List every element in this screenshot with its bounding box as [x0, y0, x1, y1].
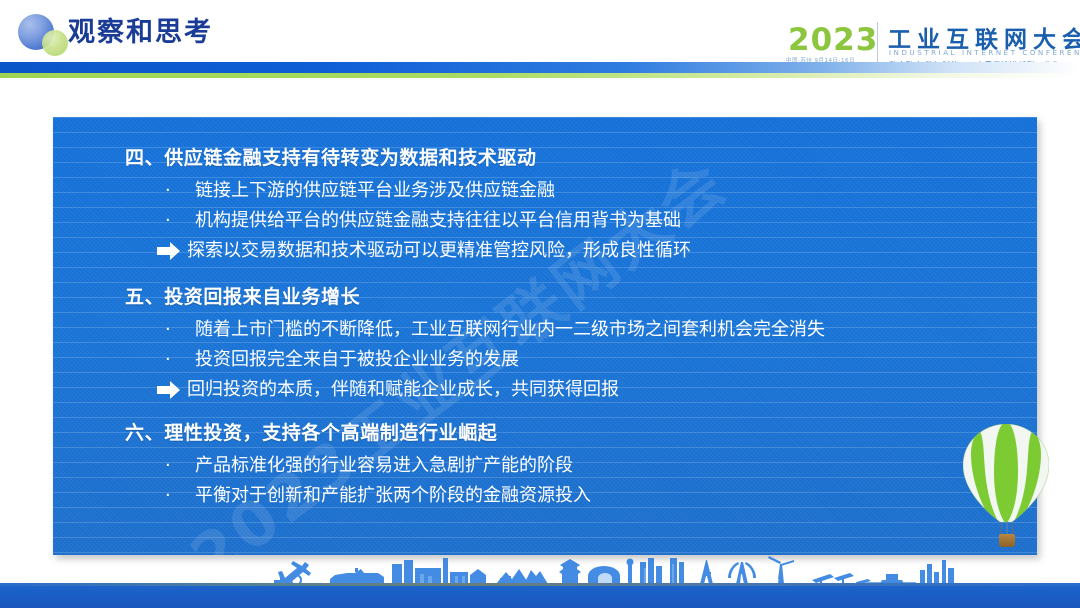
dot-bullet-icon: · — [165, 345, 195, 375]
page-title: 观察和思考 — [68, 10, 213, 49]
bullet-text: 随着上市门槛的不断降低，工业互联网行业内一二级市场之间套利机会完全消失 — [195, 315, 825, 345]
bullet-item: ·链接上下游的供应链平台业务涉及供应链金融 — [165, 176, 1037, 206]
bullet-item: ·产品标准化强的行业容易进入急剧扩产能的阶段 — [165, 451, 1037, 481]
section-heading: 五、投资回报来自业务增长 — [125, 282, 1037, 309]
green-sphere-icon — [42, 30, 68, 56]
dot-bullet-icon: · — [165, 481, 195, 511]
bullet-text: 投资回报完全来自于被投企业业务的发展 — [195, 345, 519, 375]
bullet-text: 链接上下游的供应链平台业务涉及供应链金融 — [195, 176, 555, 206]
panel-content: 四、供应链金融支持有待转变为数据和技术驱动·链接上下游的供应链平台业务涉及供应链… — [53, 117, 1037, 555]
bullet-list: ·链接上下游的供应链平台业务涉及供应链金融·机构提供给平台的供应链金融支持往往以… — [53, 176, 1037, 266]
arrow-bullet-icon — [157, 236, 187, 266]
bullet-item: 探索以交易数据和技术驱动可以更精准管控风险，形成良性循环 — [157, 236, 1037, 266]
dot-bullet-icon: · — [165, 451, 195, 481]
bullet-item: 回归投资的本质，伴随和赋能企业成长，共同获得回报 — [157, 375, 1037, 405]
bullet-list: ·随着上市门槛的不断降低，工业互联网行业内一二级市场之间套利机会完全消失·投资回… — [53, 315, 1037, 405]
bullet-list: ·产品标准化强的行业容易进入急剧扩产能的阶段·平衡对于创新和产能扩张两个阶段的金… — [53, 451, 1037, 511]
slide: 观察和思考 2023 中国·苏州 9月14日-16日 工业互联网大会 INDUS… — [0, 0, 1080, 608]
hot-air-balloon-icon — [963, 424, 1049, 559]
logo-divider — [877, 22, 878, 62]
slide-header: 观察和思考 2023 中国·苏州 9月14日-16日 工业互联网大会 INDUS… — [0, 0, 1080, 62]
bullet-text: 产品标准化强的行业容易进入急剧扩产能的阶段 — [195, 451, 573, 481]
sphere-logo-icon — [16, 12, 76, 58]
balloon-envelope-icon — [963, 424, 1049, 524]
dot-bullet-icon: · — [165, 176, 195, 206]
industrial-city-skyline-icon — [0, 556, 1080, 586]
bullet-item: ·投资回报完全来自于被投企业业务的发展 — [165, 345, 1037, 375]
bullet-text: 机构提供给平台的供应链金融支持往往以平台信用背书为基础 — [195, 206, 681, 236]
section-heading: 六、理性投资，支持各个高端制造行业崛起 — [125, 418, 1037, 445]
header-green-divider — [0, 73, 1080, 78]
bullet-item: ·平衡对于创新和产能扩张两个阶段的金融资源投入 — [165, 481, 1037, 511]
header-blue-divider — [0, 62, 1080, 73]
content-panel: 2023工业互联网大会 四、供应链金融支持有待转变为数据和技术驱动·链接上下游的… — [53, 117, 1037, 555]
bullet-text: 探索以交易数据和技术驱动可以更精准管控风险，形成良性循环 — [187, 236, 691, 266]
conference-name-en: INDUSTRIAL INTERNET CONFERENCE — [889, 49, 1080, 57]
content-section: 五、投资回报来自业务增长·随着上市门槛的不断降低，工业互联网行业内一二级市场之间… — [53, 282, 1037, 405]
section-heading: 四、供应链金融支持有待转变为数据和技术驱动 — [125, 143, 1037, 170]
bullet-item: ·机构提供给平台的供应链金融支持往往以平台信用背书为基础 — [165, 206, 1037, 236]
dot-bullet-icon: · — [165, 315, 195, 345]
conference-year: 2023 — [788, 22, 878, 58]
bottom-blue-band — [0, 583, 1080, 608]
bullet-item: ·随着上市门槛的不断降低，工业互联网行业内一二级市场之间套利机会完全消失 — [165, 315, 1037, 345]
balloon-basket-icon — [999, 534, 1015, 547]
arrow-bullet-icon — [157, 375, 187, 405]
dot-bullet-icon: · — [165, 206, 195, 236]
bullet-text: 回归投资的本质，伴随和赋能企业成长，共同获得回报 — [187, 375, 619, 405]
content-section: 四、供应链金融支持有待转变为数据和技术驱动·链接上下游的供应链平台业务涉及供应链… — [53, 143, 1037, 266]
content-section: 六、理性投资，支持各个高端制造行业崛起·产品标准化强的行业容易进入急剧扩产能的阶… — [53, 418, 1037, 511]
bullet-text: 平衡对于创新和产能扩张两个阶段的金融资源投入 — [195, 481, 591, 511]
